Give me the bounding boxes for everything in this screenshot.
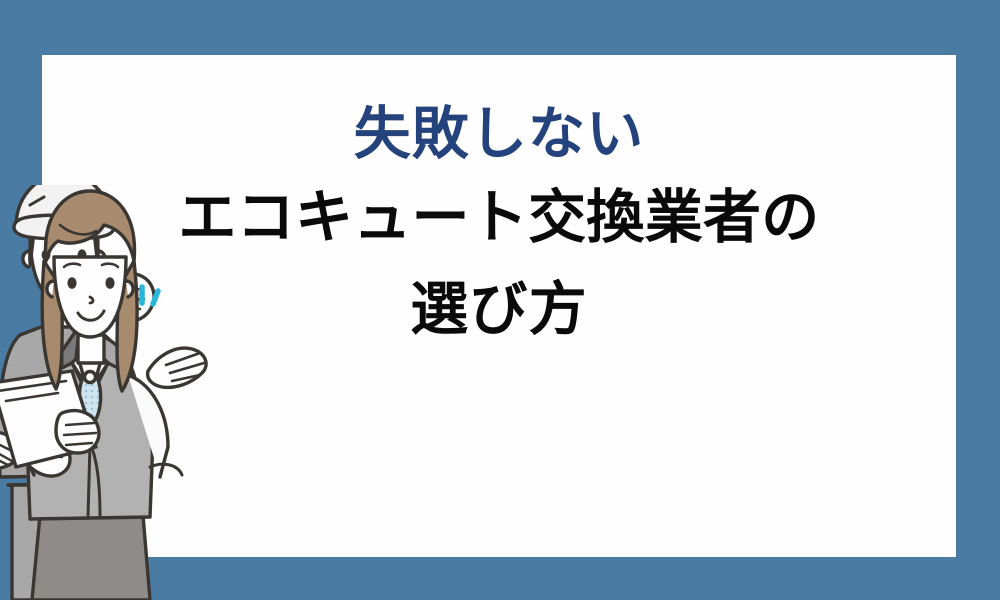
thumbnail-canvas: 失敗しない エコキュート交換業者の 選び方 <box>0 0 1000 600</box>
illustration-group <box>0 185 400 600</box>
